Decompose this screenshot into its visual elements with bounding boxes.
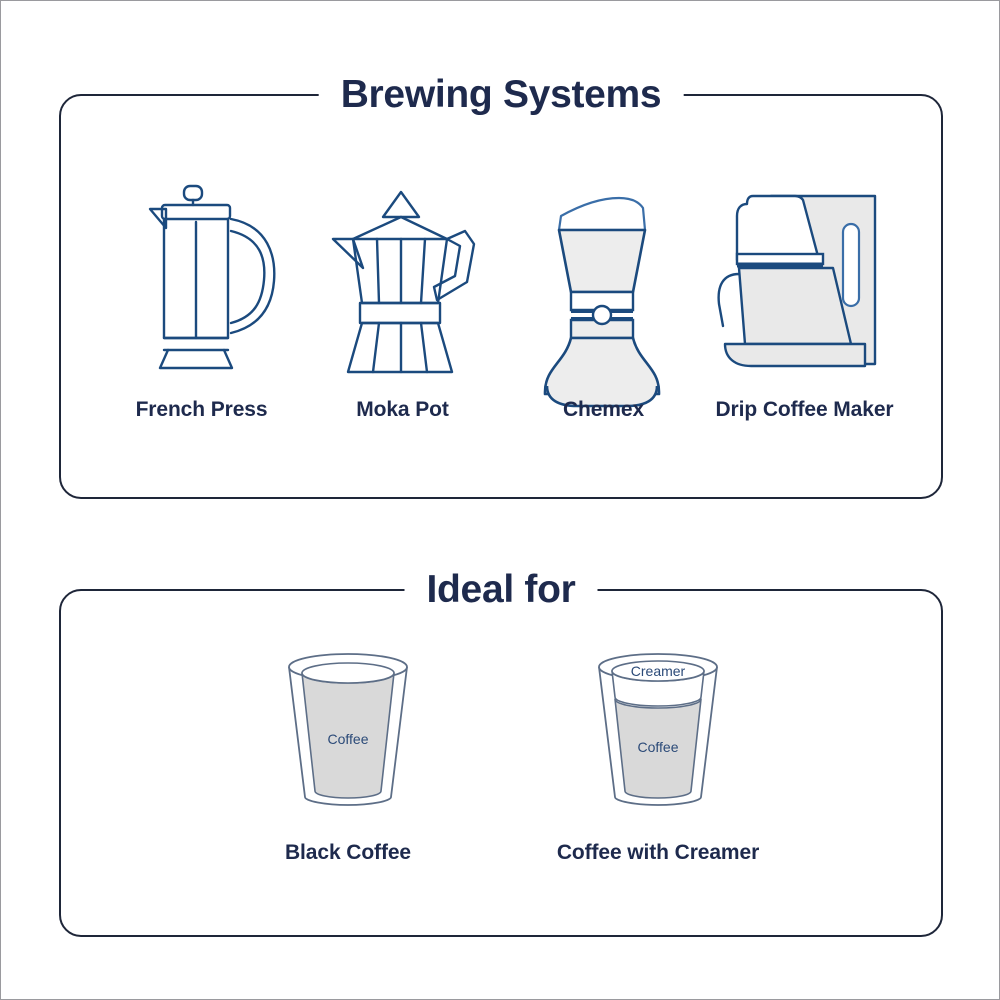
item-black-coffee[interactable]: Coffee Black Coffee: [193, 649, 503, 865]
drip-coffee-maker-icon: [715, 186, 895, 376]
coffee-layer-label: Coffee: [328, 731, 369, 747]
coffee-with-creamer-art: Creamer Coffee: [591, 649, 725, 809]
drip-coffee-maker-art: [715, 186, 895, 376]
label-coffee-with-creamer: Coffee with Creamer: [557, 841, 759, 865]
black-coffee-art: Coffee: [281, 649, 415, 809]
label-french-press: French Press: [136, 398, 268, 422]
chemex-art: [539, 186, 669, 376]
label-black-coffee: Black Coffee: [285, 841, 411, 865]
coffee-creamer-glass-icon: Creamer Coffee: [591, 649, 725, 809]
ideal-for-title: Ideal for: [405, 561, 598, 619]
brewing-systems-title: Brewing Systems: [319, 66, 684, 124]
item-chemex[interactable]: Chemex: [503, 186, 704, 422]
ideal-for-card: Ideal for Coffee Black Coffe: [59, 589, 943, 937]
coffee-glass-icon: Coffee: [281, 649, 415, 809]
label-drip-coffee-maker: Drip Coffee Maker: [715, 398, 893, 422]
brewing-systems-card: Brewing Systems: [59, 94, 943, 499]
label-chemex: Chemex: [563, 398, 644, 422]
french-press-icon: [124, 186, 280, 376]
french-press-art: [124, 186, 280, 376]
label-moka-pot: Moka Pot: [356, 398, 449, 422]
creamer-layer-label: Creamer: [631, 663, 686, 679]
item-moka-pot[interactable]: Moka Pot: [302, 186, 503, 422]
ideal-for-item-row: Coffee Black Coffee: [193, 649, 813, 865]
coffee-layer-label: Coffee: [638, 739, 679, 755]
brewing-systems-item-row: French Press: [101, 186, 905, 422]
item-drip-coffee-maker[interactable]: Drip Coffee Maker: [704, 186, 905, 422]
moka-pot-icon: [321, 186, 485, 376]
item-french-press[interactable]: French Press: [101, 186, 302, 422]
item-coffee-with-creamer[interactable]: Creamer Coffee Coffee with Creamer: [503, 649, 813, 865]
chemex-icon: [539, 186, 669, 376]
infographic-page: Brewing Systems: [0, 0, 1000, 1000]
moka-pot-art: [321, 186, 485, 376]
